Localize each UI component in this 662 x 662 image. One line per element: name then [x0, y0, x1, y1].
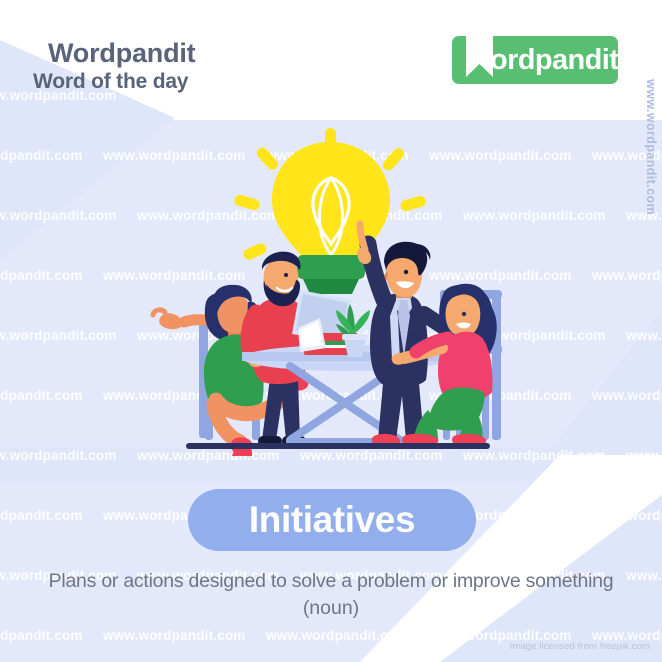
image-credit: Image licensed from freepik.com	[510, 641, 650, 652]
word-of-the-day-card: www.wordpandit.comwww.wordpandit.comwww.…	[0, 0, 662, 662]
page-subtitle: Word of the day	[33, 70, 188, 94]
page-title: Wordpandit	[48, 38, 195, 69]
bookmark-icon	[466, 32, 493, 77]
word-banner: Initiatives	[188, 489, 476, 551]
part-of-speech: (noun)	[0, 597, 662, 620]
logo-text: ordpandit	[490, 44, 618, 76]
word-text: Initiatives	[249, 499, 415, 541]
wordpandit-logo[interactable]: ordpandit	[452, 36, 618, 84]
definition-text: Plans or actions designed to solve a pro…	[0, 570, 662, 593]
vertical-watermark: www.wordpandit.com	[644, 79, 658, 215]
